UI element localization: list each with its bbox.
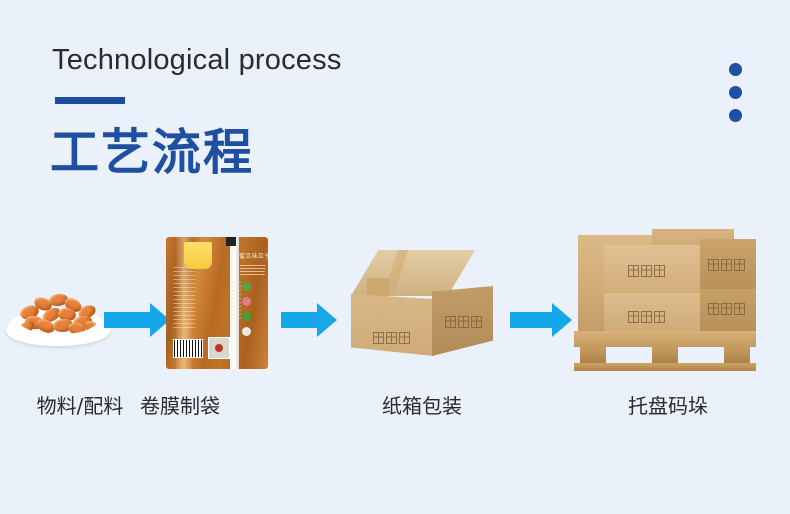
carton-front-face — [351, 294, 433, 356]
bag-feature-text — [232, 282, 241, 322]
cardboard-carton-image — [333, 250, 493, 368]
page-title-chinese: 工艺流程 — [50, 113, 254, 184]
arrow-shaft — [510, 312, 554, 328]
feature-icon-1 — [242, 282, 251, 291]
pallet-symbols-4 — [708, 303, 745, 315]
arrow-shaft — [281, 312, 319, 328]
process-slide: Technological process 工艺流程 — [0, 0, 790, 514]
this-way-up-icon — [641, 311, 652, 323]
pallet-box-lower-left — [578, 283, 604, 335]
bag-description-lines — [240, 265, 265, 277]
pallet-base-board — [574, 363, 756, 371]
peanut-pile — [16, 292, 100, 334]
this-way-up-icon — [386, 332, 397, 344]
keep-dry-icon — [654, 311, 665, 323]
keep-dry-icon — [734, 259, 745, 271]
step-label-palletize: 托盘码垛 — [588, 390, 748, 419]
step-label-film-bag: 卷膜制袋 — [100, 390, 260, 419]
arrow-3 — [510, 303, 572, 337]
arrow-1 — [104, 303, 170, 337]
title-divider-rule — [55, 97, 125, 104]
this-way-up-icon — [721, 303, 732, 315]
bag-barcode — [173, 339, 203, 358]
fragile-icon — [373, 332, 384, 344]
arrow-shaft — [104, 312, 152, 328]
pallet-symbols-2 — [708, 259, 745, 271]
feature-icon-2 — [242, 297, 251, 306]
feature-icon-4 — [242, 327, 251, 336]
pallet-deck — [574, 331, 756, 347]
fragile-icon — [708, 259, 719, 271]
more-vertical-icon[interactable] — [729, 63, 745, 132]
dot-1 — [729, 63, 742, 76]
keep-dry-icon — [654, 265, 665, 277]
arrow-2 — [281, 303, 337, 337]
carton-shipping-symbols-side — [445, 316, 482, 328]
bag-feature-icons — [242, 282, 264, 342]
bag-qr-label — [208, 337, 230, 359]
page-title-english: Technological process — [52, 44, 342, 77]
fragile-icon — [445, 316, 456, 328]
bag-tear-notch — [226, 237, 236, 246]
this-way-up-icon — [458, 316, 469, 328]
feature-icon-3 — [242, 312, 251, 321]
pallet-symbols-1 — [628, 265, 665, 277]
dot-2 — [729, 86, 742, 99]
pallet-stack-image — [566, 223, 762, 373]
carton-shipping-symbols-front — [373, 332, 410, 344]
this-way-up-icon — [641, 265, 652, 277]
keep-dry-icon — [399, 332, 410, 344]
keep-dry-icon — [471, 316, 482, 328]
bag-window — [184, 242, 212, 269]
process-flow: 物料/配料 蜜瓜味瓜子 — [0, 215, 790, 445]
bag-product-name: 蜜瓜味瓜子 — [239, 251, 266, 259]
fragile-icon — [628, 265, 639, 277]
step-label-carton: 纸箱包装 — [342, 390, 502, 419]
this-way-up-icon — [721, 259, 732, 271]
fragile-icon — [708, 303, 719, 315]
keep-dry-icon — [734, 303, 745, 315]
pallet-symbols-3 — [628, 311, 665, 323]
peanuts-on-plate-image — [6, 290, 110, 346]
snack-bag-image: 蜜瓜味瓜子 — [166, 237, 268, 369]
fragile-icon — [628, 311, 639, 323]
bag-back-text-block — [173, 267, 195, 329]
dot-3 — [729, 109, 742, 122]
